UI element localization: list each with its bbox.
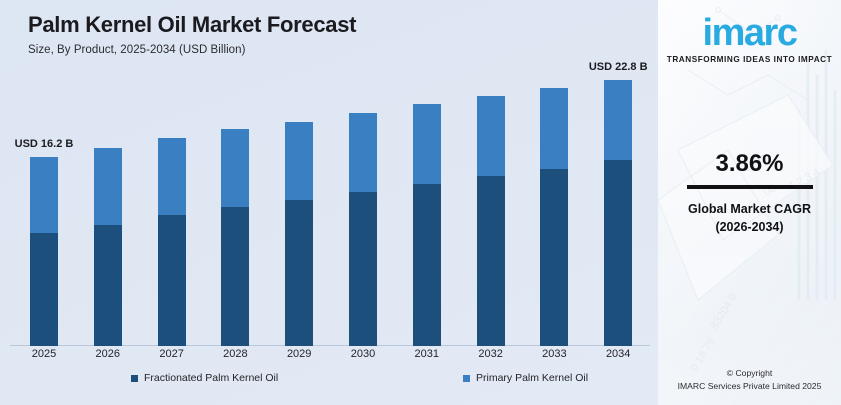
- cagr-label-line1: Global Market CAGR: [658, 200, 841, 218]
- x-axis-tick-2034: 2034: [588, 348, 648, 360]
- bar-2031[interactable]: [413, 104, 441, 346]
- cagr-label: Global Market CAGR (2026-2034): [658, 200, 841, 236]
- bar-segment-primary-2029[interactable]: [285, 122, 313, 200]
- infographic-root: Palm Kernel Oil Market Forecast Size, By…: [0, 0, 841, 405]
- bar-value-label-2025: USD 16.2 B: [15, 138, 74, 150]
- bar-segment-primary-2034[interactable]: [604, 80, 632, 161]
- legend-label: Primary Palm Kernel Oil: [476, 372, 588, 384]
- bar-segment-fractionated-2029[interactable]: [285, 200, 313, 346]
- legend-swatch-icon: [463, 375, 470, 382]
- bar-2029[interactable]: [285, 122, 313, 346]
- x-axis-tick-2029: 2029: [269, 348, 329, 360]
- bar-segment-fractionated-2025[interactable]: [30, 233, 58, 346]
- cagr-divider: [687, 185, 813, 189]
- chart-panel: Palm Kernel Oil Market Forecast Size, By…: [0, 0, 658, 405]
- bar-segment-primary-2028[interactable]: [221, 129, 249, 207]
- legend-label: Fractionated Palm Kernel Oil: [144, 372, 278, 384]
- cagr-block: 3.86% Global Market CAGR (2026-2034): [658, 150, 841, 236]
- bar-2032[interactable]: [477, 96, 505, 346]
- brand-panel: 5003 00 1 2 3 4 83204 8 0 18 76 9768 ima…: [658, 0, 841, 405]
- bar-segment-primary-2031[interactable]: [413, 104, 441, 183]
- x-axis-tick-2033: 2033: [524, 348, 584, 360]
- bar-2026[interactable]: [94, 148, 122, 346]
- chart-legend: Fractionated Palm Kernel OilPrimary Palm…: [0, 372, 658, 390]
- bar-segment-primary-2026[interactable]: [94, 148, 122, 225]
- chart-subtitle: Size, By Product, 2025-2034 (USD Billion…: [28, 44, 356, 56]
- bar-segment-primary-2030[interactable]: [349, 113, 377, 192]
- x-axis: 2025202620272028202920302031203220332034: [0, 346, 658, 368]
- legend-swatch-icon: [131, 375, 138, 382]
- x-axis-tick-2027: 2027: [142, 348, 202, 360]
- plot-area: USD 16.2 BUSD 22.8 B: [0, 60, 658, 346]
- page-title: Palm Kernel Oil Market Forecast: [28, 12, 356, 38]
- chart-header: Palm Kernel Oil Market Forecast Size, By…: [28, 12, 356, 56]
- legend-item-2[interactable]: Primary Palm Kernel Oil: [463, 372, 588, 384]
- legend-item-1[interactable]: Fractionated Palm Kernel Oil: [131, 372, 278, 384]
- x-axis-tick-2030: 2030: [333, 348, 393, 360]
- bar-2028[interactable]: [221, 129, 249, 346]
- x-axis-tick-2031: 2031: [397, 348, 457, 360]
- brand-logo: imarc TRANSFORMING IDEAS INTO IMPACT: [658, 14, 841, 64]
- bar-segment-fractionated-2031[interactable]: [413, 184, 441, 346]
- bar-segment-primary-2033[interactable]: [540, 88, 568, 169]
- bar-2033[interactable]: [540, 88, 568, 346]
- bar-segment-fractionated-2030[interactable]: [349, 192, 377, 346]
- bar-segment-fractionated-2026[interactable]: [94, 225, 122, 346]
- bar-segment-primary-2032[interactable]: [477, 96, 505, 175]
- bar-segment-fractionated-2034[interactable]: [604, 160, 632, 346]
- bar-value-label-2034: USD 22.8 B: [589, 61, 648, 73]
- bar-2025[interactable]: USD 16.2 B: [30, 157, 58, 346]
- bar-segment-fractionated-2032[interactable]: [477, 176, 505, 346]
- imarc-wordmark: imarc: [703, 14, 797, 52]
- copyright-line1: © Copyright: [658, 367, 841, 380]
- bar-segment-fractionated-2028[interactable]: [221, 207, 249, 346]
- x-axis-tick-2028: 2028: [205, 348, 265, 360]
- bar-segment-primary-2027[interactable]: [158, 138, 186, 215]
- copyright-line2: IMARC Services Private Limited 2025: [658, 380, 841, 393]
- bar-2027[interactable]: [158, 138, 186, 346]
- x-axis-tick-2025: 2025: [14, 348, 74, 360]
- cagr-value: 3.86%: [658, 150, 841, 178]
- bar-segment-fractionated-2027[interactable]: [158, 215, 186, 346]
- brand-tagline: TRANSFORMING IDEAS INTO IMPACT: [658, 55, 841, 64]
- cagr-label-line2: (2026-2034): [658, 218, 841, 236]
- bar-segment-primary-2025[interactable]: [30, 157, 58, 233]
- copyright-notice: © Copyright IMARC Services Private Limit…: [658, 367, 841, 393]
- bar-segment-fractionated-2033[interactable]: [540, 169, 568, 346]
- x-axis-tick-2032: 2032: [461, 348, 521, 360]
- bar-2034[interactable]: USD 22.8 B: [604, 80, 632, 346]
- x-axis-tick-2026: 2026: [78, 348, 138, 360]
- bar-2030[interactable]: [349, 113, 377, 346]
